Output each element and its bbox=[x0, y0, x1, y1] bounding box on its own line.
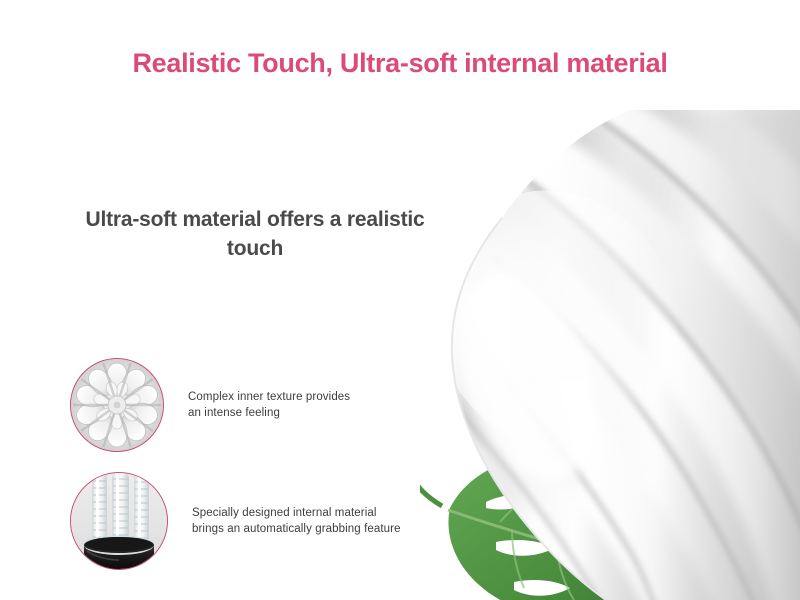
feature-label: Specially designed internal material bri… bbox=[192, 505, 401, 538]
feature-label: Complex inner texture provides an intens… bbox=[188, 389, 350, 422]
feature-item-complex-texture: Complex inner texture provides an intens… bbox=[70, 358, 350, 452]
transparent-sleeve-thumbnail bbox=[70, 472, 168, 570]
radial-texture-thumbnail bbox=[70, 358, 164, 452]
blossom-cluster bbox=[752, 159, 798, 403]
leaf-cluster-upper-right bbox=[702, 240, 793, 476]
product-feature-banner: Realistic Touch, Ultra-soft internal mat… bbox=[0, 0, 800, 600]
monstera-leaf bbox=[420, 455, 650, 600]
feature-item-internal-material: Specially designed internal material bri… bbox=[70, 472, 401, 570]
leaf-sliver-bottom bbox=[646, 550, 712, 600]
page-title: Realistic Touch, Ultra-soft internal mat… bbox=[0, 48, 800, 79]
section-subtitle: Ultra-soft material offers a realistic t… bbox=[55, 206, 455, 264]
tropical-foliage-backdrop bbox=[420, 120, 800, 600]
